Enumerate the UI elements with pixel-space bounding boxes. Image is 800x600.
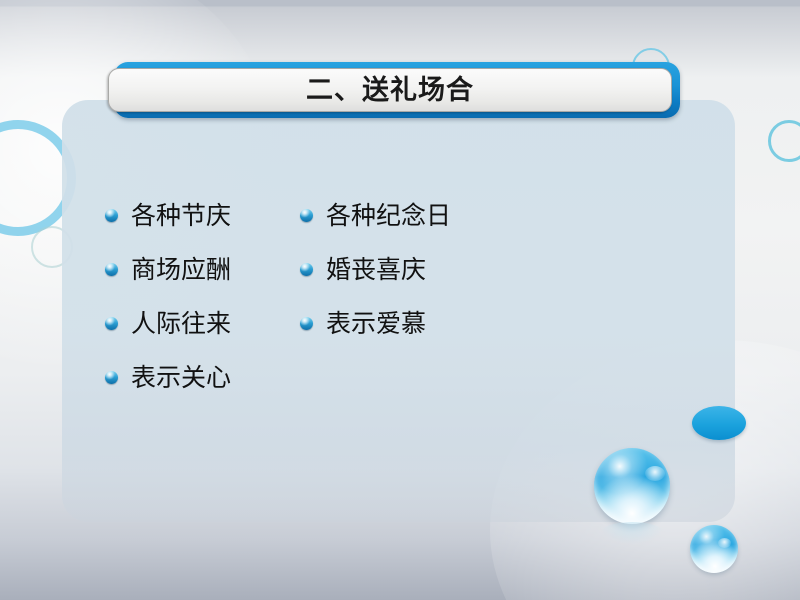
bullet-column-right: 各种纪念日 婚丧喜庆 表示爱慕 [300, 188, 451, 350]
title-bar-inner-panel: 二、送礼场合 [108, 68, 672, 112]
list-item-label: 各种节庆 [131, 203, 231, 228]
bullet-sphere-icon [300, 209, 313, 222]
decorative-ring-right-edge-icon [768, 120, 800, 162]
list-item-label: 人际往来 [131, 311, 231, 336]
bullet-sphere-icon [300, 263, 313, 276]
decorative-bubble-small-highlight-icon [718, 538, 731, 548]
slide-title-bar: 二、送礼场合 [108, 62, 680, 118]
list-item: 人际往来 [105, 296, 231, 350]
list-item-label: 表示关心 [131, 365, 231, 390]
bullet-sphere-icon [300, 317, 313, 330]
decorative-bubble-small-icon [690, 525, 738, 573]
list-item: 各种纪念日 [300, 188, 451, 242]
list-item: 婚丧喜庆 [300, 242, 451, 296]
list-item-label: 婚丧喜庆 [326, 257, 426, 282]
list-item-label: 表示爱慕 [326, 311, 426, 336]
bullet-sphere-icon [105, 263, 118, 276]
bullet-column-left: 各种节庆 商场应酬 人际往来 表示关心 [105, 188, 231, 404]
list-item: 表示关心 [105, 350, 231, 404]
list-item: 各种节庆 [105, 188, 231, 242]
page-title: 二、送礼场合 [306, 77, 474, 104]
decorative-bubble-large-reflection-icon [600, 522, 664, 544]
list-item: 表示爱慕 [300, 296, 451, 350]
slide-canvas: 二、送礼场合 各种节庆 商场应酬 人际往来 表示关心 [0, 0, 800, 600]
list-item-label: 各种纪念日 [326, 203, 451, 228]
bullet-sphere-icon [105, 371, 118, 384]
bullet-sphere-icon [105, 317, 118, 330]
list-item-label: 商场应酬 [131, 257, 231, 282]
bullet-sphere-icon [105, 209, 118, 222]
list-item: 商场应酬 [105, 242, 231, 296]
